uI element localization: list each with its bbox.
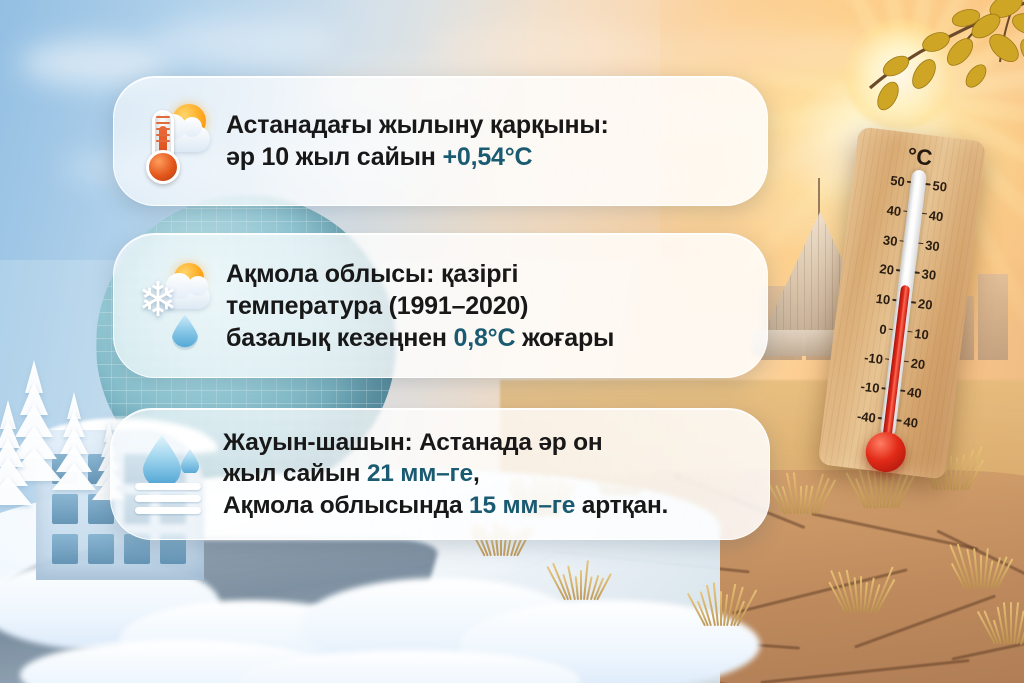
- highlighted-value: +0,54°C: [442, 143, 532, 171]
- thermometer-icon-marks: [156, 116, 170, 150]
- text-segment: температура (1991–2020): [226, 292, 528, 320]
- water-drop-large-icon: [143, 435, 181, 483]
- info-card-precipitation[interactable]: Жауын-шашын: Астанада әр онжыл сайын 21 …: [110, 408, 770, 540]
- text-segment: жыл сайын: [223, 460, 367, 487]
- wave-line: [135, 483, 201, 490]
- card-text-line: Жауын-шашын: Астанада әр он: [223, 427, 668, 458]
- water-drop-small-icon: [181, 449, 199, 473]
- card-text-line: әр 10 жыл сайын +0,54°C: [226, 141, 609, 173]
- highlighted-value: 21 мм–ге: [367, 460, 473, 487]
- text-segment: артқан.: [575, 492, 668, 519]
- text-segment: базалық кезеңнен: [226, 324, 454, 352]
- thermometer-icon-bulb: [146, 150, 180, 184]
- text-segment: ,: [473, 460, 480, 487]
- snowflake-icon: ❄: [134, 277, 182, 325]
- text-segment: Ақмола облысында: [223, 492, 469, 519]
- card-text-akmola-temperature: Ақмола облысы: қазіргітемпература (1991–…: [226, 258, 614, 354]
- highlighted-value: 15 мм–ге: [469, 492, 575, 519]
- card-text-line: Ақмола облысы: қазіргі: [226, 258, 614, 290]
- text-segment: әр 10 жыл сайын: [226, 143, 442, 171]
- info-card-warming-rate[interactable]: Астанадағы жылыну қарқыны:әр 10 жыл сайы…: [113, 76, 768, 206]
- card-text-warming-rate: Астанадағы жылыну қарқыны:әр 10 жыл сайы…: [226, 109, 609, 173]
- wave-line: [135, 507, 201, 514]
- card-text-line: Астанадағы жылыну қарқыны:: [226, 109, 609, 141]
- text-segment: Жауын-шашын: Астанада әр он: [223, 429, 603, 456]
- info-cards: Астанадағы жылыну қарқыны:әр 10 жыл сайы…: [0, 0, 1024, 683]
- snowflake-sun-cloud-drop-icon: ❄: [134, 263, 210, 349]
- text-segment: Астанадағы жылыну қарқыны:: [226, 111, 609, 139]
- card-text-line: базалық кезеңнен 0,8°C жоғары: [226, 322, 614, 354]
- text-segment: жоғары: [515, 324, 614, 352]
- thermometer-sun-cloud-icon: [134, 98, 210, 184]
- card-text-precipitation: Жауын-шашын: Астанада әр онжыл сайын 21 …: [223, 427, 668, 521]
- highlighted-value: 0,8°C: [454, 324, 516, 352]
- text-segment: Ақмола облысы: қазіргі: [226, 260, 518, 288]
- card-text-line: Ақмола облысында 15 мм–ге артқан.: [223, 490, 668, 521]
- wave-lines-icon: [135, 483, 201, 517]
- wave-line: [135, 495, 201, 502]
- card-text-line: температура (1991–2020): [226, 290, 614, 322]
- water-drops-waves-icon: [131, 431, 207, 517]
- card-text-line: жыл сайын 21 мм–ге,: [223, 458, 668, 489]
- info-card-akmola-temperature[interactable]: ❄ Ақмола облысы: қазіргітемпература (199…: [113, 233, 768, 378]
